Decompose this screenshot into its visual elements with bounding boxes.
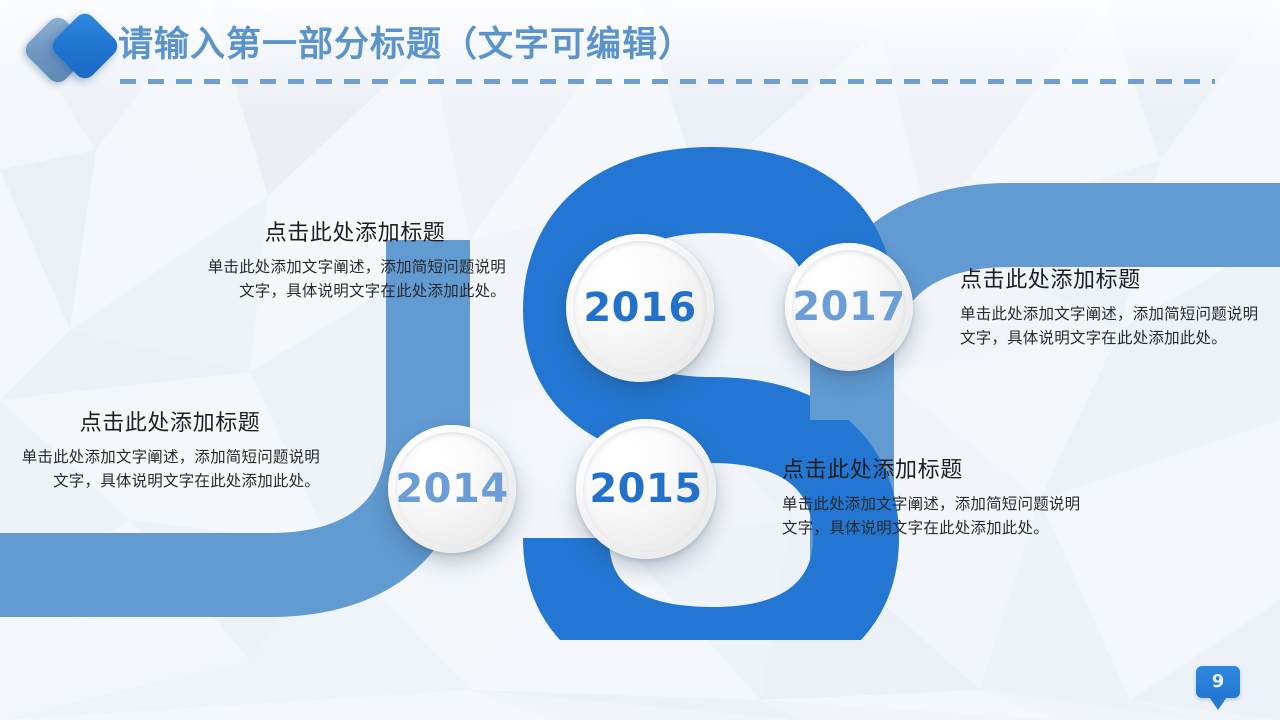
text-block-body[interactable]: 单击此处添加文字阐述，添加简短问题说明文字，具体说明文字在此处添加此处。: [960, 303, 1260, 350]
page-title[interactable]: 请输入第一部分标题（文字可编辑）: [118, 16, 694, 67]
timeline-node-label: 2015: [589, 466, 702, 512]
timeline-node-label: 2016: [583, 285, 696, 331]
text-block-body[interactable]: 单击此处添加文字阐述，添加简短问题说明文字，具体说明文字在此处添加此处。: [782, 493, 1082, 540]
text-block-bottom-left: 点击此处添加标题 单击此处添加文字阐述，添加简短问题说明文字，具体说明文字在此处…: [20, 405, 320, 493]
text-block-heading[interactable]: 点击此处添加标题: [204, 215, 506, 247]
text-block-heading[interactable]: 点击此处添加标题: [960, 262, 1260, 294]
timeline-node-2017[interactable]: 2017: [785, 243, 913, 371]
text-block-body[interactable]: 单击此处添加文字阐述，添加简短问题说明文字，具体说明文字在此处添加此处。: [204, 256, 506, 303]
timeline-node-label: 2014: [395, 466, 508, 512]
page-number-label: 9: [1212, 673, 1225, 691]
slide-header: 请输入第一部分标题（文字可编辑）: [0, 0, 1280, 108]
timeline-node-label: 2017: [792, 284, 905, 330]
page-number-badge: 9: [1196, 666, 1240, 698]
text-block-top-right: 点击此处添加标题 单击此处添加文字阐述，添加简短问题说明文字，具体说明文字在此处…: [960, 262, 1260, 350]
text-block-body[interactable]: 单击此处添加文字阐述，添加简短问题说明文字，具体说明文字在此处添加此处。: [20, 446, 320, 493]
timeline-node-2015[interactable]: 2015: [576, 419, 716, 559]
timeline-node-2014[interactable]: 2014: [388, 425, 516, 553]
text-block-top-left: 点击此处添加标题 单击此处添加文字阐述，添加简短问题说明文字，具体说明文字在此处…: [204, 215, 506, 303]
text-block-heading[interactable]: 点击此处添加标题: [782, 452, 1082, 484]
text-block-heading[interactable]: 点击此处添加标题: [20, 405, 320, 437]
slide-canvas: 请输入第一部分标题（文字可编辑）: [0, 0, 1280, 720]
dashed-divider: [120, 79, 1215, 84]
timeline-node-2016[interactable]: 2016: [566, 234, 714, 382]
text-block-bottom-right: 点击此处添加标题 单击此处添加文字阐述，添加简短问题说明文字，具体说明文字在此处…: [782, 452, 1082, 540]
